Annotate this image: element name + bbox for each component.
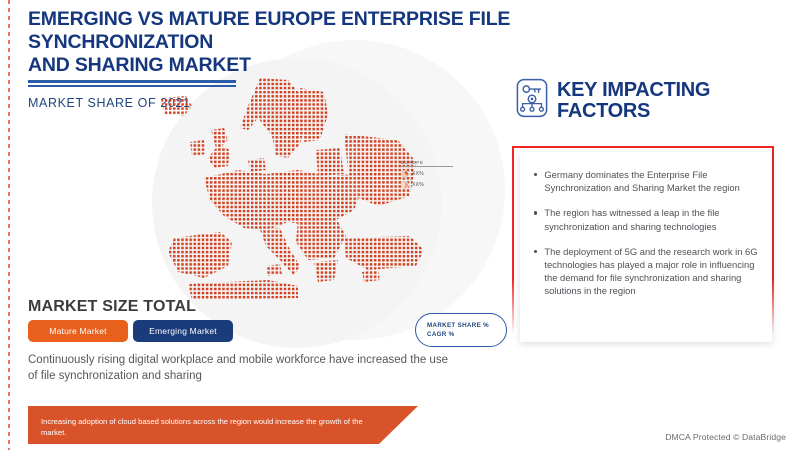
badge-line-1: MARKET SHARE %: [427, 321, 506, 330]
key-network-icon: [516, 78, 548, 118]
badge-line-2: CAGR %: [427, 330, 506, 339]
key-factors-card: Germany dominates the Enterprise File Sy…: [520, 152, 772, 342]
key-factors-title-line-2: FACTORS: [557, 101, 710, 122]
market-size-description: Continuously rising digital workplace an…: [28, 352, 448, 384]
legend-item: XX%: [401, 181, 459, 189]
insight-ribbon: Increasing adoption of cloud based solut…: [28, 406, 418, 444]
market-type-legend: Mature Market Emerging Market: [28, 320, 233, 342]
key-factor-item: Germany dominates the Enterprise File Sy…: [534, 168, 758, 194]
insight-ribbon-text: Increasing adoption of cloud based solut…: [41, 416, 371, 438]
emerging-market-pill[interactable]: Emerging Market: [133, 320, 233, 342]
bullet-dot-icon: [534, 173, 537, 176]
key-factors-header: KEY IMPACTING FACTORS: [516, 78, 710, 122]
key-factors-title-line-1: KEY IMPACTING: [557, 80, 710, 101]
key-factor-text: The deployment of 5G and the research wo…: [544, 245, 758, 298]
key-factor-item: The region has witnessed a leap in the f…: [534, 206, 758, 232]
europe-dot-map: [148, 70, 448, 320]
infographic-canvas: EMERGING VS MATURE EUROPE ENTERPRISE FIL…: [0, 0, 800, 450]
key-factor-text: The region has witnessed a leap in the f…: [544, 206, 758, 232]
legend-item: XX%: [401, 170, 459, 178]
legend-value: XX%: [412, 171, 424, 177]
left-dotted-rail: [8, 0, 10, 450]
bullet-dot-icon: [534, 250, 537, 253]
mature-market-pill[interactable]: Mature Market: [28, 320, 128, 342]
legend-value: XX%: [412, 182, 424, 188]
pie-marker-emerging-icon: [401, 181, 409, 189]
market-share-cagr-badge: MARKET SHARE % CAGR %: [415, 313, 507, 347]
key-factors-title: KEY IMPACTING FACTORS: [557, 78, 710, 122]
copyright-footer: DMCA Protected © DataBridge: [665, 432, 786, 442]
bullet-dot-icon: [534, 211, 537, 214]
pie-marker-mature-icon: [401, 170, 409, 178]
page-title-line-1: EMERGING VS MATURE EUROPE ENTERPRISE FIL…: [28, 8, 588, 54]
market-size-heading: MARKET SIZE TOTAL: [28, 298, 196, 316]
map-legend: EUROPE XX% XX%: [401, 160, 459, 189]
key-factor-item: The deployment of 5G and the research wo…: [534, 245, 758, 298]
legend-region-label: EUROPE: [401, 160, 453, 167]
key-factor-text: Germany dominates the Enterprise File Sy…: [544, 168, 758, 194]
